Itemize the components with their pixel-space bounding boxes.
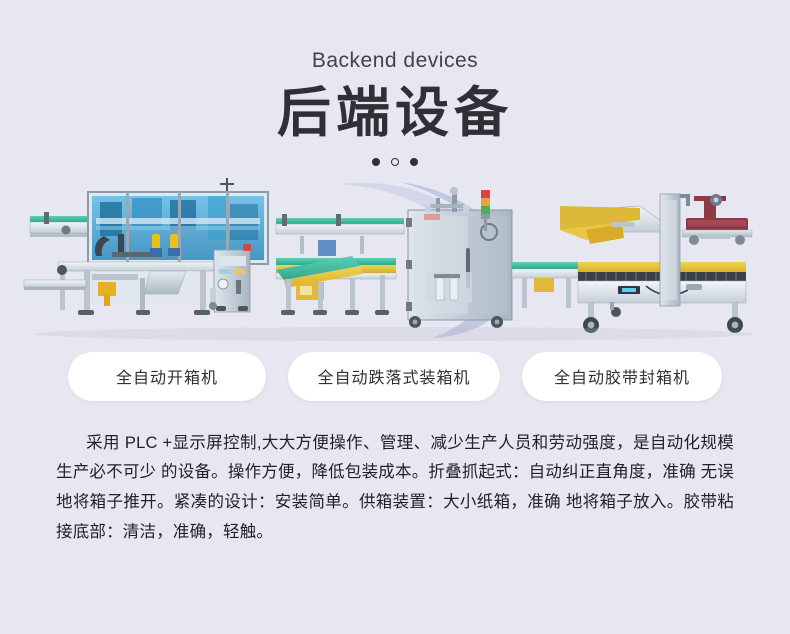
- dot-indicator-3: [410, 158, 418, 166]
- page-subtitle: Backend devices: [0, 50, 790, 71]
- dot-separator: [0, 158, 790, 166]
- machine-line-illustration: [0, 174, 790, 344]
- machine-line-graphic: [0, 174, 790, 344]
- machine-tape-sealer: [512, 194, 752, 333]
- machine-label-row: 全自动开箱机 全自动跌落式装箱机 全自动胶带封箱机: [0, 352, 790, 401]
- pill-drop-case-packer-label: 全自动跌落式装箱机: [317, 364, 470, 388]
- description-text: 采用 PLC +显示屏控制,大大方便操作、管理、减少生产人员和劳动强度，是自动化…: [56, 434, 734, 541]
- machine-case-erector: [24, 178, 268, 315]
- dot-indicator-2: [391, 158, 399, 166]
- description-paragraph: 采用 PLC +显示屏控制,大大方便操作、管理、减少生产人员和劳动强度，是自动化…: [56, 429, 734, 548]
- machine-drop-case-packer: [276, 187, 512, 328]
- pill-drop-case-packer[interactable]: 全自动跌落式装箱机: [288, 352, 500, 401]
- page-root: Backend devices 后端设备: [0, 0, 790, 634]
- pill-tape-sealer[interactable]: 全自动胶带封箱机: [522, 352, 722, 401]
- pill-case-erector[interactable]: 全自动开箱机: [68, 352, 266, 401]
- pill-case-erector-label: 全自动开箱机: [116, 364, 218, 388]
- pill-tape-sealer-label: 全自动胶带封箱机: [554, 364, 690, 388]
- page-title: 后端设备: [0, 85, 790, 142]
- page-header: Backend devices 后端设备: [0, 0, 790, 166]
- dot-indicator-1: [372, 158, 380, 166]
